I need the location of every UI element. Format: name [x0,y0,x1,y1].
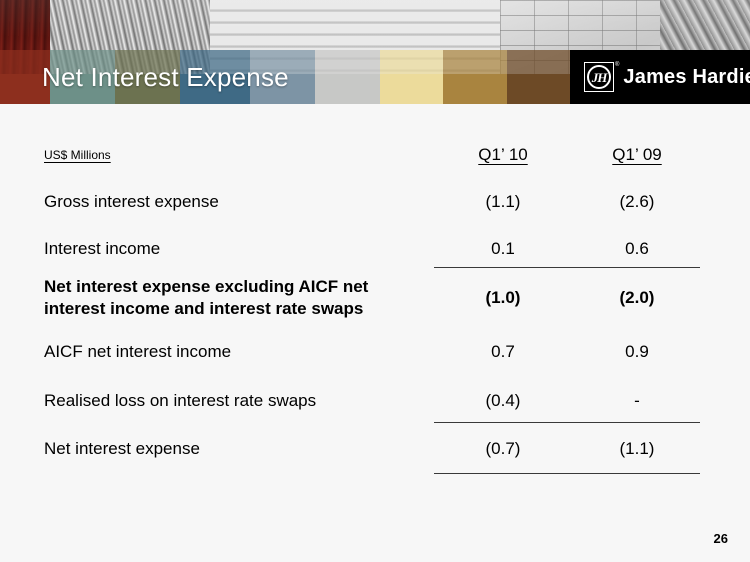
row-value-q1-10: (0.7) [443,438,563,460]
page-title: Net Interest Expense [42,62,289,93]
row-label: Net interest expense excluding AICF net … [44,276,424,320]
table-header-row: US$ Millions Q1’ 10 Q1’ 09 [0,144,750,166]
band-gold-brown [443,74,507,104]
table-row-total: Net interest expense (0.7) (1.1) [0,438,750,460]
table-row-subtotal: Net interest expense excluding AICF net … [0,276,750,320]
band-dark-brown [507,74,570,104]
table-row: Gross interest expense (1.1) (2.6) [0,191,750,213]
row-value-q1-10: 0.1 [443,238,563,260]
table-row: Realised loss on interest rate swaps (0.… [0,390,750,412]
slide: Net Interest Expense JH ® James Hardie U… [0,0,750,562]
row-label: Gross interest expense [44,191,424,213]
row-label-line1: Net interest expense excluding AICF net [44,277,368,296]
column-header-q1-10: Q1’ 10 [443,144,563,166]
header-banner: Net Interest Expense JH ® James Hardie [0,0,750,104]
band-light-gray [315,74,380,104]
james-hardie-monogram-icon: JH [584,62,614,92]
row-value-q1-09: (1.1) [577,438,697,460]
row-value-q1-09: 0.6 [577,238,697,260]
row-label: Interest income [44,238,424,260]
row-value-q1-09: - [577,390,697,412]
row-value-q1-09: (2.0) [577,287,697,309]
row-value-q1-10: (1.0) [443,287,563,309]
row-label: Net interest expense [44,438,424,460]
row-value-q1-09: 0.9 [577,341,697,363]
row-value-q1-10: (0.4) [443,390,563,412]
subtotal-rule-top [434,267,700,268]
registered-trademark-icon: ® [615,62,619,68]
page-number: 26 [714,531,728,546]
unit-label: US$ Millions [44,144,424,166]
row-value-q1-10: 0.7 [443,341,563,363]
table-row: AICF net interest income 0.7 0.9 [0,341,750,363]
row-label-line2: interest income and interest rate swaps [44,299,363,318]
column-header-q1-09: Q1’ 09 [577,144,697,166]
total-rule-bottom [434,473,700,474]
row-value-q1-10: (1.1) [443,191,563,213]
row-label: AICF net interest income [44,341,424,363]
band-cream [380,74,443,104]
table-row: Interest income 0.1 0.6 [0,238,750,260]
brand-logo: JH ® James Hardie [570,50,750,104]
monogram-ring: JH [587,65,611,89]
row-value-q1-09: (2.6) [577,191,697,213]
total-rule-top [434,422,700,423]
row-label: Realised loss on interest rate swaps [44,390,424,412]
brand-name: James Hardie [623,66,750,89]
monogram-letters: JH [592,71,607,84]
